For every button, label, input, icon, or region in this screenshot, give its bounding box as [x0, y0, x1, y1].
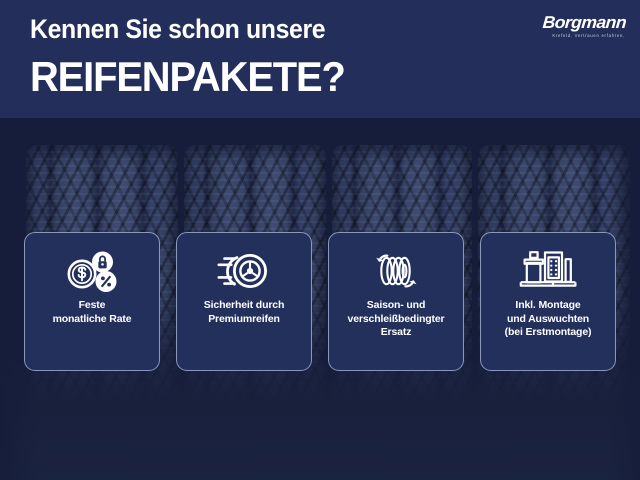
card1-line2: monatliche Rate: [53, 313, 132, 325]
brand-logo[interactable]: Borgmann Krefeld. Vertrauen erfahren.: [522, 14, 626, 46]
feature-card-row: Feste monatliche Rate: [0, 232, 640, 372]
headline-secondary: REIFENPAKETE?: [30, 53, 345, 101]
feature-card-mounting-balancing[interactable]: Inkl. Montage und Auswuchten (bei Erstmo…: [480, 232, 616, 371]
card1-line1: Feste: [79, 299, 106, 311]
tire-stack-exchange-icon: [366, 247, 426, 295]
card3-line1: Saison- und: [367, 299, 425, 311]
logo-wordmark: Borgmann: [517, 14, 626, 32]
feature-card-premium-tires[interactable]: Sicherheit durch Premiumreifen: [176, 232, 312, 371]
card4-line3: (bei Erstmontage): [505, 326, 592, 338]
logo-tagline: Krefeld. Vertrauen erfahren.: [522, 32, 626, 40]
rolling-wheel-icon: [212, 247, 276, 295]
feature-card-label: Inkl. Montage und Auswuchten (bei Erstmo…: [499, 299, 598, 340]
banner-root: Kennen Sie schon unsere REIFENPAKETE? Bo…: [0, 0, 640, 480]
feature-card-label: Feste monatliche Rate: [47, 299, 138, 326]
feature-card-seasonal-replacement[interactable]: Saison- und verschleißbedingter Ersatz: [328, 232, 464, 371]
tire-mounting-machine-icon: [515, 247, 581, 295]
feature-card-label: Saison- und verschleißbedingter Ersatz: [342, 299, 451, 340]
card2-line1: Sicherheit durch: [204, 299, 284, 311]
card2-line2: Premiumreifen: [208, 313, 280, 325]
coin-lock-percent-icon: [61, 247, 123, 295]
card4-line1: Inkl. Montage: [515, 299, 580, 311]
feature-card-label: Sicherheit durch Premiumreifen: [198, 299, 290, 326]
card3-line3: Ersatz: [381, 326, 412, 338]
feature-card-fixed-rate[interactable]: Feste monatliche Rate: [24, 232, 160, 371]
headline-primary: Kennen Sie schon unsere: [30, 14, 325, 45]
card3-line2: verschleißbedingter: [348, 313, 445, 325]
card4-line2: und Auswuchten: [507, 313, 589, 325]
